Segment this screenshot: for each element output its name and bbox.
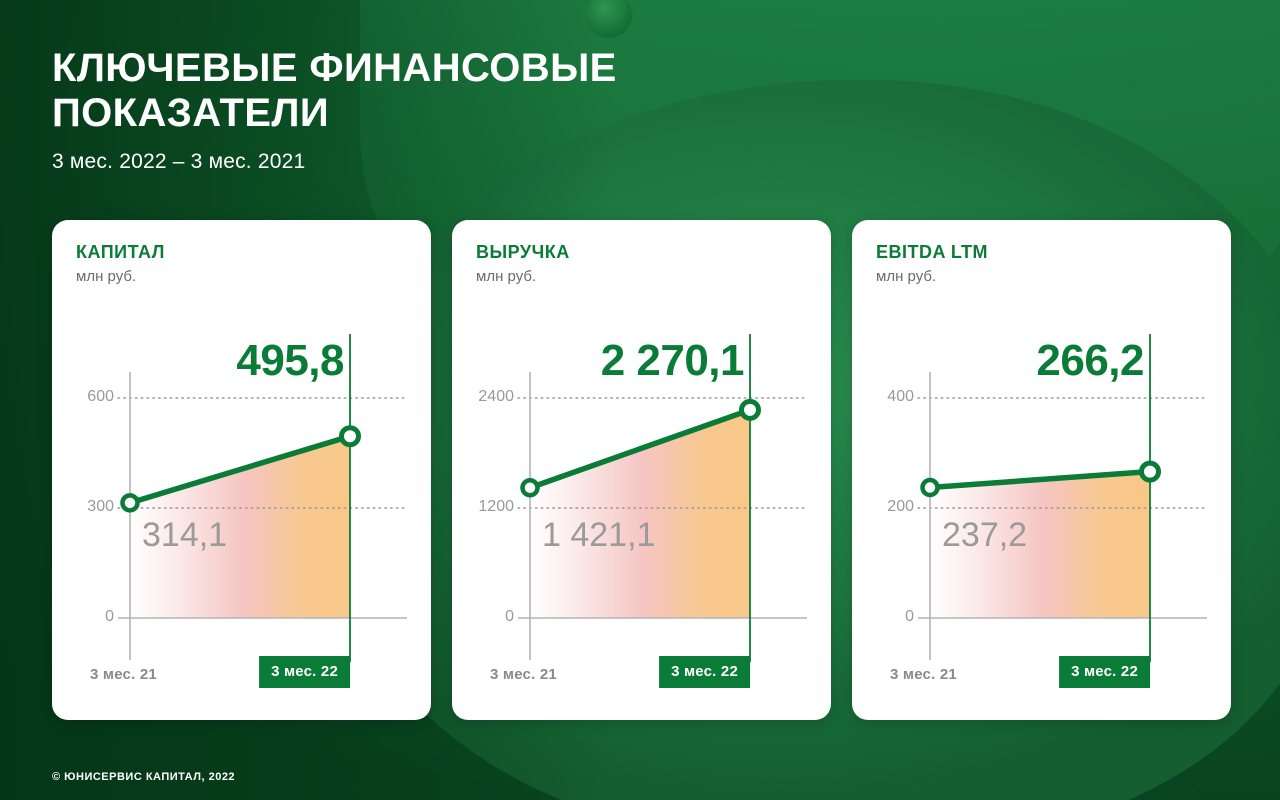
current-value-label: 266,2 (1036, 336, 1144, 386)
x-axis-badge-current: 3 мес. 22 (259, 656, 350, 688)
metric-card: КАПИТАЛ млн руб. (52, 220, 431, 720)
data-point-marker-end (742, 401, 759, 418)
metric-card: EBITDA LTM млн руб. (852, 220, 1231, 720)
x-axis-label-previous: 3 мес. 21 (90, 666, 157, 683)
y-axis-tick-zero: 0 (454, 608, 514, 626)
data-point-marker-start (923, 480, 938, 495)
current-value-label: 2 270,1 (601, 336, 744, 386)
y-axis-tick-top: 600 (54, 388, 114, 406)
x-axis-badge-current: 3 мес. 22 (1059, 656, 1150, 688)
data-point-marker-end (1142, 463, 1159, 480)
area-fill (530, 410, 750, 618)
y-axis-tick-mid: 300 (54, 498, 114, 516)
x-axis-label-previous: 3 мес. 21 (490, 666, 557, 683)
previous-value-label: 314,1 (142, 516, 227, 555)
y-axis-tick-zero: 0 (54, 608, 114, 626)
metric-card: ВЫРУЧКА млн руб. (452, 220, 831, 720)
y-axis-tick-top: 400 (854, 388, 914, 406)
chart-plot (52, 220, 431, 720)
y-axis-tick-mid: 1200 (454, 498, 514, 516)
previous-value-label: 1 421,1 (542, 516, 655, 555)
previous-value-label: 237,2 (942, 516, 1027, 555)
y-axis-tick-mid: 200 (854, 498, 914, 516)
metric-card-list: КАПИТАЛ млн руб. (52, 220, 1231, 720)
copyright-notice: © ЮНИСЕРВИС КАПИТАЛ, 2022 (52, 771, 235, 783)
header: КЛЮЧЕВЫЕ ФИНАНСОВЫЕ ПОКАЗАТЕЛИ 3 мес. 20… (52, 46, 617, 174)
data-point-marker-start (523, 480, 538, 495)
page-subtitle: 3 мес. 2022 – 3 мес. 2021 (52, 150, 617, 174)
y-axis-tick-zero: 0 (854, 608, 914, 626)
x-axis-label-previous: 3 мес. 21 (890, 666, 957, 683)
data-point-marker-start (123, 495, 138, 510)
chart-plot (852, 220, 1231, 720)
current-value-label: 495,8 (236, 336, 344, 386)
x-axis-badge-current: 3 мес. 22 (659, 656, 750, 688)
data-point-marker-end (342, 428, 359, 445)
chart-plot (452, 220, 831, 720)
page-title: КЛЮЧЕВЫЕ ФИНАНСОВЫЕ ПОКАЗАТЕЛИ (52, 46, 617, 136)
y-axis-tick-top: 2400 (454, 388, 514, 406)
